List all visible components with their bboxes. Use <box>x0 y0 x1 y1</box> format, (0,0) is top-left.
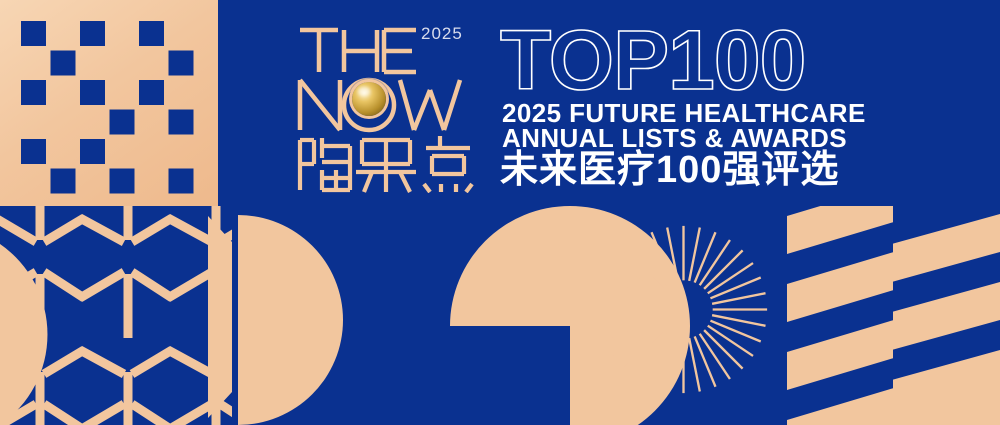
gold-orb-icon <box>352 82 386 116</box>
checker-cell <box>80 80 105 105</box>
checkerboard-svg <box>0 0 218 206</box>
checker-cell <box>21 80 46 105</box>
checker-cell <box>110 169 135 194</box>
checker-cell <box>21 21 46 46</box>
headline-english-line2: ANNUAL LISTS & AWARDS <box>502 125 847 151</box>
stripes-panel-left <box>787 206 907 425</box>
checker-cell <box>110 110 135 135</box>
half-circle-left <box>0 244 47 425</box>
headline-chinese: 未来医疗100强评选 <box>500 150 839 190</box>
checker-cell <box>51 51 76 76</box>
checker-cell <box>139 80 164 105</box>
checker-cell <box>80 139 105 164</box>
checker-cell <box>51 169 76 194</box>
top100-title: TOP100 <box>500 18 805 102</box>
sunburst-svg <box>596 222 771 397</box>
half-circle-main <box>238 215 343 425</box>
sunburst-decor <box>596 222 771 397</box>
checker-cell <box>80 21 105 46</box>
checkerboard-decor <box>0 0 218 206</box>
checker-cell <box>169 169 194 194</box>
the-now-logo: 2025 <box>292 18 490 193</box>
headline-block: TOP100 2025 FUTURE HEALTHCARE ANNUAL LIS… <box>500 20 980 190</box>
the-now-wordmark <box>292 18 490 193</box>
diagonal-stripes-decor <box>787 206 1000 425</box>
banner-root: 2025 TOP100 2025 FUTURE HEALTHCARE ANNUA… <box>0 0 1000 425</box>
checker-cell <box>169 110 194 135</box>
checker-cell <box>139 21 164 46</box>
lattice-edge-wedge <box>208 216 232 418</box>
checker-cell <box>21 139 46 164</box>
logo-year: 2025 <box>421 24 463 44</box>
diagonal-stripes-svg <box>787 206 1000 425</box>
checker-cell <box>169 51 194 76</box>
stripes-panel-right <box>877 212 1000 425</box>
